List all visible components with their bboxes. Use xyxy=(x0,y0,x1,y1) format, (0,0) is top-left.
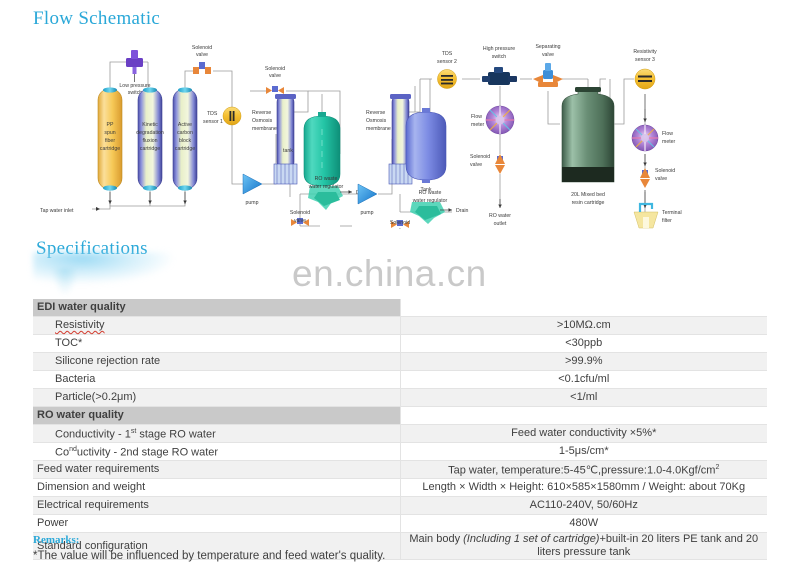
table-cell-value: <1/ml xyxy=(400,389,767,407)
svg-text:meter: meter xyxy=(471,122,485,128)
svg-text:Solenoid: Solenoid xyxy=(655,168,675,174)
svg-text:Solenoid: Solenoid xyxy=(192,45,212,51)
remarks-label: Remarks: xyxy=(33,534,79,546)
svg-text:pump: pump xyxy=(246,200,259,206)
table-group-header: RO water quality xyxy=(33,407,400,425)
flow-schematic-diagram: .lbl{font-family:"Liberation Sans",sans-… xyxy=(0,34,800,229)
table-row: Particle(>0.2μm)<1/ml xyxy=(33,389,767,407)
table-row: RO water quality xyxy=(33,407,767,425)
table-row: Conductivity - 1st stage RO waterFeed wa… xyxy=(33,425,767,443)
svg-text:Flow: Flow xyxy=(662,131,673,137)
label-drain-2: Drain xyxy=(456,208,469,214)
table-row: Bacteria<0.1cfu/ml xyxy=(33,371,767,389)
ro-waste-water-regulator-2: RO waste water regulator xyxy=(410,190,448,224)
svg-text:cartridge: cartridge xyxy=(175,146,195,152)
specifications-table-body: EDI water qualityResistivity>10MΩ.cmTOC*… xyxy=(33,299,767,560)
svg-text:membrane: membrane xyxy=(366,126,391,132)
solenoid-valve-4: Solenoid valve xyxy=(390,220,410,229)
svg-text:sensor 1: sensor 1 xyxy=(203,119,223,125)
svg-text:High pressure: High pressure xyxy=(483,46,515,52)
svg-text:valve: valve xyxy=(394,228,406,229)
table-row: Dimension and weightLength × Width × Hei… xyxy=(33,479,767,497)
svg-text:TDS: TDS xyxy=(207,111,218,117)
specifications-table: EDI water qualityResistivity>10MΩ.cmTOC*… xyxy=(33,299,767,560)
table-cell-key: TOC* xyxy=(33,335,400,353)
table-cell-value: Feed water conductivity ×5%* xyxy=(400,425,767,443)
table-group-blank xyxy=(400,407,767,425)
reverse-osmosis-membrane-2: Reverse Osmosis membrane xyxy=(366,94,412,184)
solenoid-valve-2: Solenoid valve xyxy=(265,66,285,94)
pump-1: pump xyxy=(243,174,262,206)
table-row: Electrical requirementsAC110-240V, 50/60… xyxy=(33,497,767,515)
label-tap-water-inlet: Tap water inlet xyxy=(40,208,74,214)
mixed-bed-resin-cartridge: 20L Mixed bed resin cartridge xyxy=(562,87,614,206)
svg-text:cartridge: cartridge xyxy=(100,146,120,152)
svg-text:valve: valve xyxy=(196,52,208,58)
table-cell-value: <0.1cfu/ml xyxy=(400,371,767,389)
svg-text:cartridge: cartridge xyxy=(140,146,160,152)
remarks-text: *The value will be influenced by tempera… xyxy=(33,550,385,562)
reverse-osmosis-membrane-1: Reverse Osmosis membrane xyxy=(252,94,297,184)
svg-text:Separating: Separating xyxy=(535,44,560,50)
table-row: EDI water quality xyxy=(33,299,767,317)
table-row: Resistivity>10MΩ.cm xyxy=(33,317,767,335)
table-cell-value: >99.9% xyxy=(400,353,767,371)
svg-text:Resistivity: Resistivity xyxy=(633,49,657,55)
table-row: Power480W xyxy=(33,515,767,533)
table-group-header: EDI water quality xyxy=(33,299,400,317)
pump-2: pump xyxy=(358,184,377,216)
svg-text:switch: switch xyxy=(492,54,507,60)
table-cell-value: <30ppb xyxy=(400,335,767,353)
svg-text:valve: valve xyxy=(542,52,554,58)
svg-text:Osmosis: Osmosis xyxy=(252,118,273,124)
superscript-two: 2 xyxy=(715,464,719,471)
svg-text:water regulator: water regulator xyxy=(413,198,448,204)
table-cell-value: AC110-240V, 50/60Hz xyxy=(400,497,767,515)
table-cell-key: Conductivity - 2nd stage RO water xyxy=(33,443,400,461)
title-glow-decoration-2 xyxy=(52,268,78,296)
flow-meter-1: Flow meter xyxy=(471,106,514,134)
separating-valve: Separating valve xyxy=(533,44,563,87)
svg-text:pump: pump xyxy=(361,210,374,216)
svg-text:carbon: carbon xyxy=(177,130,193,136)
table-cell-key: Power xyxy=(33,515,400,533)
svg-text:sensor 3: sensor 3 xyxy=(635,57,655,63)
svg-text:Osmosis: Osmosis xyxy=(366,118,387,124)
svg-text:valve: valve xyxy=(655,176,667,182)
active-carbon-block-cartridge: Active carbon block cartridge xyxy=(173,87,197,204)
label-ro-water-outlet-2: outlet xyxy=(494,221,507,227)
spellcheck-underlined-text: Resistivity xyxy=(55,319,105,331)
table-cell-value: Tap water, temperature:5-45℃,pressure:1.… xyxy=(400,461,767,479)
table-cell-value: 1-5μs/cm* xyxy=(400,443,767,461)
terminal-filter: Terminal filter DI water outlet xyxy=(634,204,682,229)
table-row: TOC*<30ppb xyxy=(33,335,767,353)
svg-text:20L Mixed bed: 20L Mixed bed xyxy=(571,192,605,198)
svg-text:Solenoid: Solenoid xyxy=(265,66,285,72)
flow-schematic-title: Flow Schematic xyxy=(33,8,160,30)
resistivity-sensor-3: Resistivity sensor 3 xyxy=(633,49,657,89)
table-cell-key: Bacteria xyxy=(33,371,400,389)
table-group-blank xyxy=(400,299,767,317)
svg-text:Flow: Flow xyxy=(471,114,482,120)
solenoid-valve-5: Solenoid valve xyxy=(470,154,505,174)
table-cell-key: Feed water requirements xyxy=(33,461,400,479)
emphasis-text: (Including 1 set of cartridge) xyxy=(463,533,599,545)
ordinal-suffix: nd xyxy=(69,446,77,453)
svg-text:water regulator: water regulator xyxy=(309,184,344,190)
table-cell-value: >10MΩ.cm xyxy=(400,317,767,335)
kinetic-degradation-fluxion-cartridge: Kinetic degradation fluxion cartridge xyxy=(136,87,164,204)
table-cell-key: Silicone rejection rate xyxy=(33,353,400,371)
svg-text:valve: valve xyxy=(294,218,306,224)
svg-text:meter: meter xyxy=(662,139,676,145)
table-cell-key: Conductivity - 1st stage RO water xyxy=(33,425,400,443)
solenoid-valve-3: Solenoid valve xyxy=(290,210,310,226)
svg-text:Solenoid: Solenoid xyxy=(290,210,310,216)
svg-text:block: block xyxy=(179,138,192,144)
table-row: Feed water requirementsTap water, temper… xyxy=(33,461,767,479)
tds-sensor-1: TDS sensor 1 xyxy=(203,107,241,125)
svg-text:filter: filter xyxy=(662,218,672,224)
table-cell-value: Length × Width × Height: 610×585×1580mm … xyxy=(400,479,767,497)
svg-text:fiber: fiber xyxy=(105,138,115,144)
svg-text:RO waste: RO waste xyxy=(419,190,442,196)
table-cell-key: Particle(>0.2μm) xyxy=(33,389,400,407)
high-pressure-switch: High pressure switch xyxy=(482,46,517,85)
svg-text:TDS: TDS xyxy=(442,51,453,57)
table-cell-key: Electrical requirements xyxy=(33,497,400,515)
table-row: Conductivity - 2nd stage RO water1-5μs/c… xyxy=(33,443,767,461)
ordinal-suffix: st xyxy=(131,428,136,435)
svg-text:valve: valve xyxy=(470,162,482,168)
svg-text:sensor 2: sensor 2 xyxy=(437,59,457,65)
svg-text:RO waste: RO waste xyxy=(315,176,338,182)
solenoid-valve-1: Solenoid valve xyxy=(192,45,212,74)
table-cell-key: Dimension and weight xyxy=(33,479,400,497)
svg-text:Reverse: Reverse xyxy=(252,110,271,116)
svg-text:valve: valve xyxy=(269,73,281,79)
specifications-title: Specifications xyxy=(36,238,148,260)
table-row: Silicone rejection rate>99.9% xyxy=(33,353,767,371)
svg-text:Kinetic: Kinetic xyxy=(142,122,158,128)
svg-text:membrane: membrane xyxy=(252,126,277,132)
table-cell-value: 480W xyxy=(400,515,767,533)
svg-text:resin cartridge: resin cartridge xyxy=(572,200,605,206)
svg-text:Terminal: Terminal xyxy=(662,210,682,216)
svg-text:fluxion: fluxion xyxy=(143,138,158,144)
svg-text:PP: PP xyxy=(107,122,114,128)
table-cell-key: Resistivity xyxy=(33,317,400,335)
watermark: en.china.cn xyxy=(292,253,487,295)
svg-text:Active: Active xyxy=(178,122,192,128)
svg-text:Solenoid: Solenoid xyxy=(470,154,490,160)
flow-meter-2: Flow meter xyxy=(632,125,676,151)
label-ro-water-outlet: RO water xyxy=(489,213,511,219)
svg-text:tank: tank xyxy=(283,148,293,154)
tds-sensor-2: TDS sensor 2 xyxy=(437,51,457,89)
svg-text:degradation: degradation xyxy=(136,130,164,136)
svg-text:Solenoid: Solenoid xyxy=(390,220,410,226)
solenoid-valve-6: Solenoid valve xyxy=(640,168,675,188)
table-cell-value: Main body (Including 1 set of cartridge)… xyxy=(400,533,767,560)
svg-text:Reverse: Reverse xyxy=(366,110,385,116)
pp-spun-fiber-cartridge: PP spun fiber cartridge xyxy=(98,87,122,204)
svg-text:spun: spun xyxy=(104,130,115,136)
